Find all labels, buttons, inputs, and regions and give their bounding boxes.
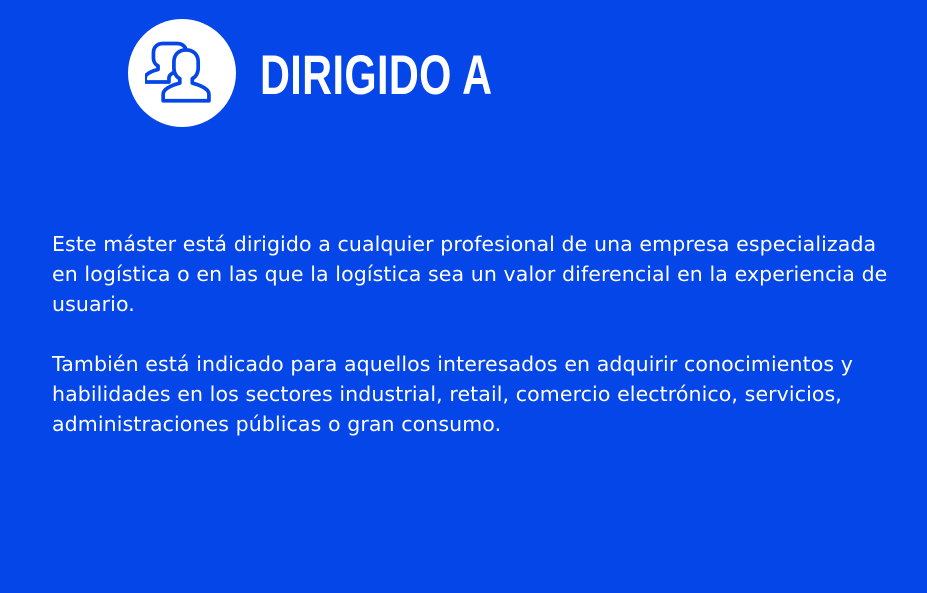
paragraph-audience-primary: Este máster está dirigido a cualquier pr… xyxy=(52,229,892,319)
slide-header: DIRIGIDO A xyxy=(128,19,574,127)
body-copy: Este máster está dirigido a cualquier pr… xyxy=(52,229,892,439)
paragraph-audience-secondary: También está indicado para aquellos inte… xyxy=(52,349,892,439)
slide-dirigido-a: DIRIGIDO A Este máster está dirigido a c… xyxy=(0,0,927,593)
page-title: DIRIGIDO A xyxy=(260,47,492,103)
two-people-icon xyxy=(128,19,236,127)
